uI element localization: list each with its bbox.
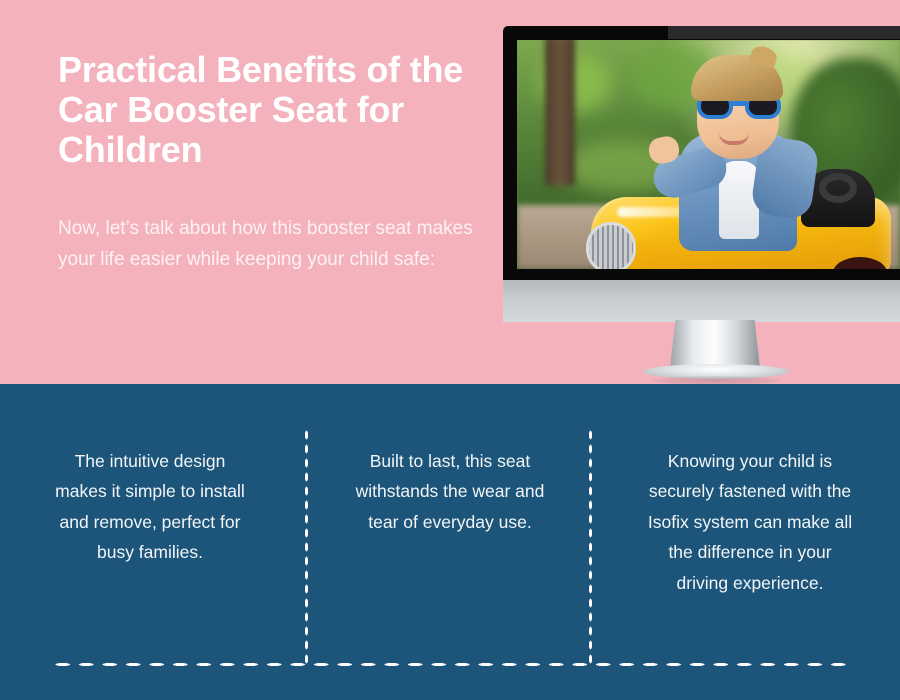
benefits-section: The intuitive design makes it simple to …: [0, 384, 900, 700]
benefit-column-3: Knowing your child is securely fastened …: [600, 384, 900, 654]
child-figure: [669, 41, 809, 251]
benefit-text: The intuitive design makes it simple to …: [52, 446, 248, 568]
monitor-stand-neck: [670, 320, 760, 368]
monitor-bezel: [503, 26, 900, 283]
hair: [691, 55, 783, 101]
horizontal-dotted-divider: [51, 662, 851, 667]
vertical-dotted-divider-2: [588, 428, 593, 666]
park-scene-photo: [517, 40, 900, 269]
monitor-screen: [517, 40, 900, 269]
benefit-text: Knowing your child is securely fastened …: [643, 446, 858, 598]
car-seat-handle: [819, 173, 857, 203]
page-title: Practical Benefits of the Car Booster Se…: [58, 50, 478, 170]
benefit-column-1: The intuitive design makes it simple to …: [0, 384, 300, 654]
monitor-chin: [503, 280, 900, 322]
monitor-illustration: [503, 26, 900, 378]
tree-trunk: [545, 40, 575, 186]
benefit-column-2: Built to last, this seat withstands the …: [300, 384, 600, 654]
benefits-columns: The intuitive design makes it simple to …: [0, 384, 900, 654]
hero-section: Practical Benefits of the Car Booster Se…: [0, 0, 900, 384]
benefit-text: Built to last, this seat withstands the …: [348, 446, 553, 537]
hero-lede: Now, let’s talk about how this booster s…: [58, 214, 473, 276]
vertical-dotted-divider-1: [304, 428, 309, 666]
infographic-page: Practical Benefits of the Car Booster Se…: [0, 0, 900, 700]
car-grille: [589, 225, 633, 269]
